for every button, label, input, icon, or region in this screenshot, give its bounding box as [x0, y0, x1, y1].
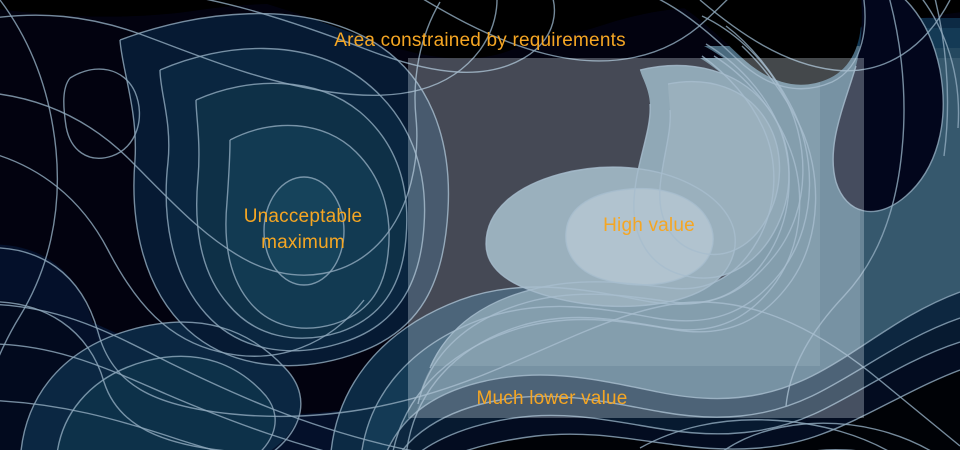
annotation-title: Area constrained by requirements — [334, 30, 626, 52]
contour-map-figure: Area constrained by requirements Unaccep… — [0, 0, 960, 450]
annotation-unacceptable-maximum-line2: maximum — [213, 230, 393, 256]
annotation-high-value: High value — [603, 215, 695, 237]
annotation-much-lower-value: Much lower value — [476, 388, 627, 410]
annotation-unacceptable-maximum-line1: Unacceptable — [213, 204, 393, 230]
annotation-unacceptable-maximum: Unacceptable maximum — [213, 204, 393, 256]
contour-plot-canvas — [0, 0, 960, 450]
